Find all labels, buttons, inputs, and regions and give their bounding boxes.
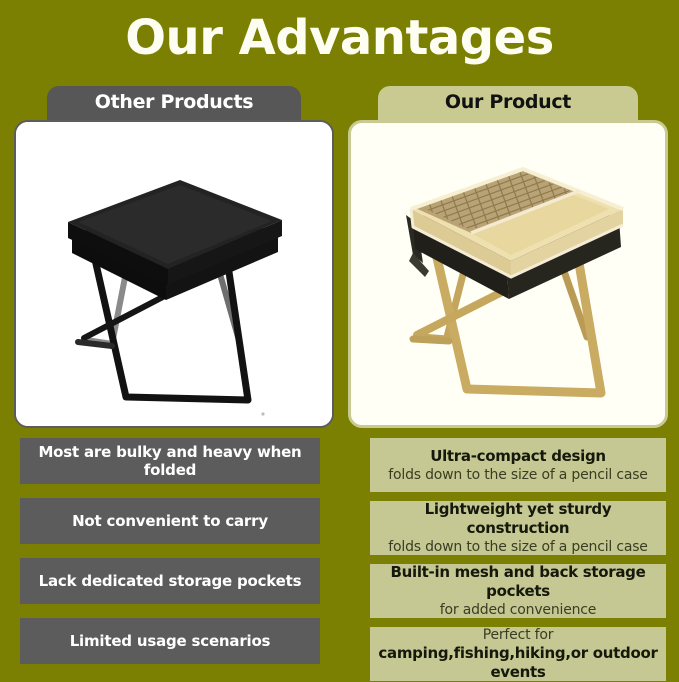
feature-main-text: Lightweight yet sturdy construction xyxy=(376,500,660,538)
feature-box-other-1: Not convenient to carry xyxy=(20,498,320,544)
product-image-card-other-products xyxy=(14,120,334,428)
column-header-badge-other-products: Other Products xyxy=(47,86,301,120)
feature-box-ours-3: camping,fishing,hiking,or outdoor events… xyxy=(370,627,666,681)
black-folding-stool-photo xyxy=(16,122,332,426)
khaki-folding-stool-photo xyxy=(351,123,665,425)
feature-list-our-product: Ultra-compact design folds down to the s… xyxy=(370,438,666,681)
feature-box-other-2: Lack dedicated storage pockets xyxy=(20,558,320,604)
feature-box-other-3: Limited usage scenarios xyxy=(20,618,320,664)
feature-box-ours-2: Built-in mesh and back storage pockets f… xyxy=(370,564,666,618)
feature-sub-text: folds down to the size of a pencil case xyxy=(388,538,647,556)
comparison-column-our-product: Our Product xyxy=(348,86,668,428)
product-image-card-our-product xyxy=(348,120,668,428)
feature-list-other-products: Most are bulky and heavy when folded Not… xyxy=(20,438,320,664)
feature-main-text: camping,fishing,hiking,or outdoor events xyxy=(376,644,660,682)
feature-sub-text: Perfect for xyxy=(483,626,554,644)
page-title: Our Advantages xyxy=(0,9,679,67)
feature-box-other-0: Most are bulky and heavy when folded xyxy=(20,438,320,484)
feature-box-ours-0: Ultra-compact design folds down to the s… xyxy=(370,438,666,492)
feature-box-ours-1: Lightweight yet sturdy construction fold… xyxy=(370,501,666,555)
feature-main-text: Limited usage scenarios xyxy=(70,632,271,650)
feature-main-text: Ultra-compact design xyxy=(430,447,606,466)
feature-main-text: Most are bulky and heavy when folded xyxy=(30,443,310,479)
feature-main-text: Lack dedicated storage pockets xyxy=(39,572,302,590)
feature-main-text: Not convenient to carry xyxy=(72,512,268,530)
column-header-badge-our-product: Our Product xyxy=(378,86,638,120)
feature-main-text: Built-in mesh and back storage pockets xyxy=(376,563,660,601)
feature-sub-text: for added convenience xyxy=(440,601,596,619)
feature-sub-text: folds down to the size of a pencil case xyxy=(388,466,647,484)
badge-label-our-product: Our Product xyxy=(445,92,571,112)
comparison-column-other-products: Other Products xyxy=(14,86,334,428)
badge-label-other-products: Other Products xyxy=(95,92,254,112)
